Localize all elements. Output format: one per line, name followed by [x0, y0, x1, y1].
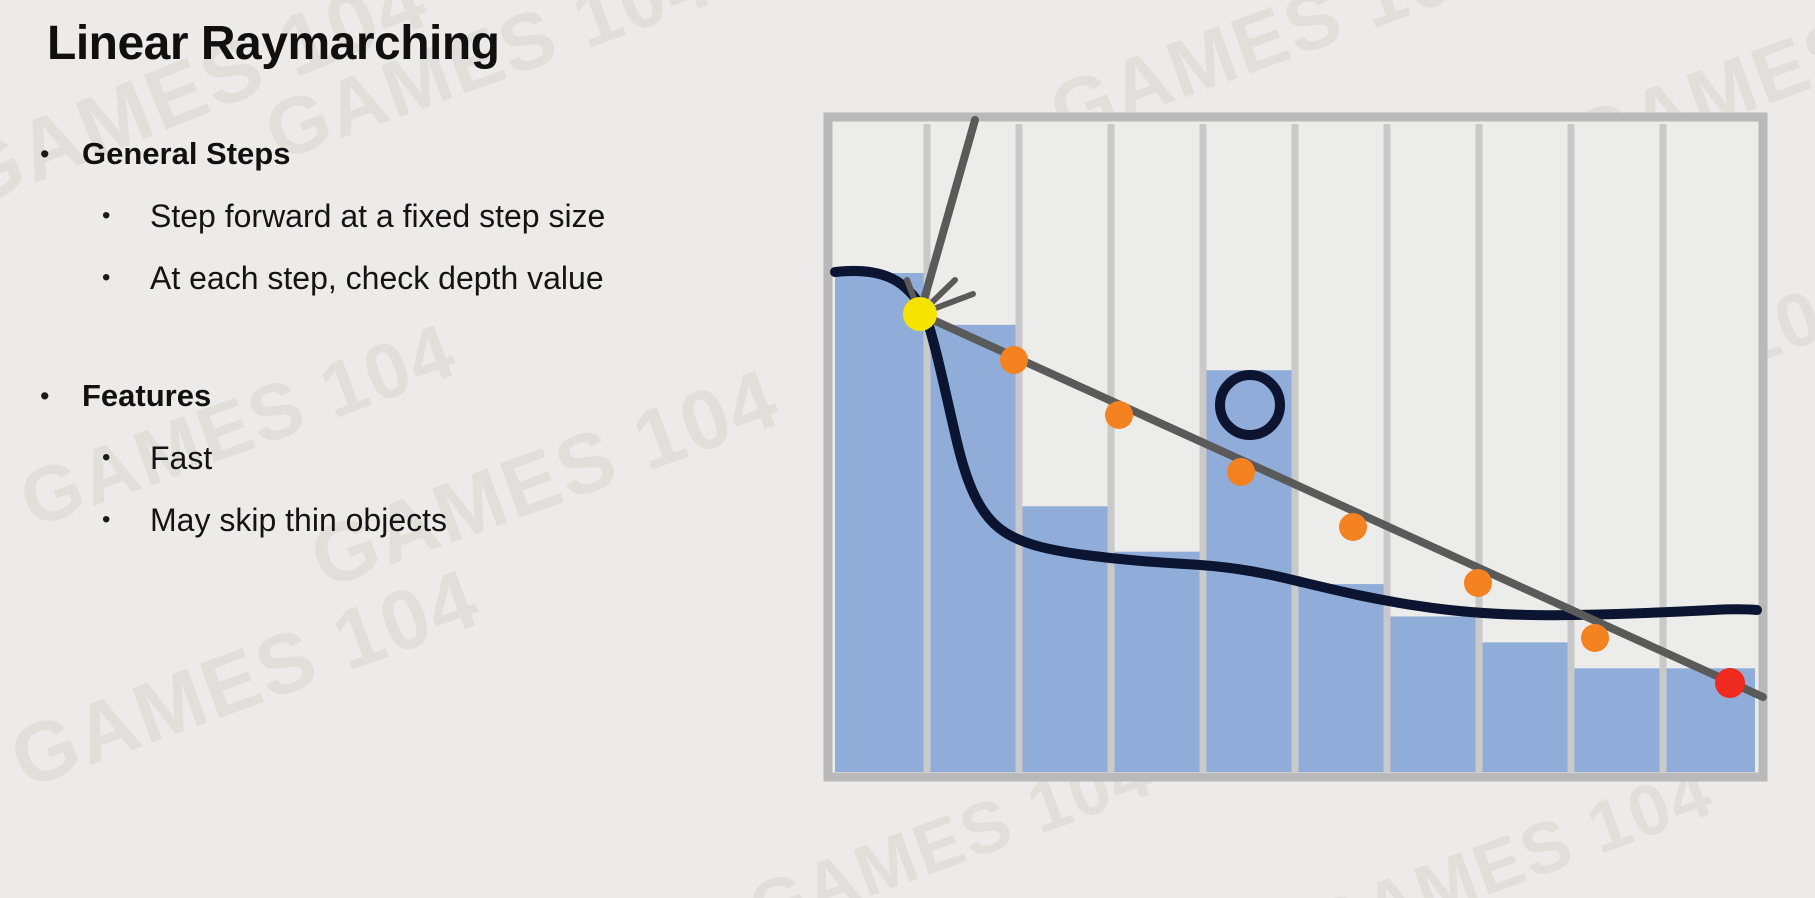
step-sample-dot: [1227, 458, 1255, 486]
bullet-group-spacer: [40, 312, 780, 370]
step-sample-dot: [1105, 401, 1133, 429]
step-sample-dot: [1339, 513, 1367, 541]
depth-bar: [1111, 552, 1203, 772]
bullet-label: General Steps: [82, 128, 290, 180]
slide-content: Linear Raymarching • General Steps • Ste…: [0, 0, 1815, 898]
bullet-item-check-depth: • At each step, check depth value: [40, 250, 780, 306]
bullet-item-step-forward: • Step forward at a fixed step size: [40, 188, 780, 244]
bullet-marker-icon: •: [40, 128, 82, 180]
bullet-marker-icon: •: [102, 492, 150, 548]
depth-bar: [1295, 584, 1387, 772]
bullet-label: May skip thin objects: [150, 492, 447, 548]
step-sample-dot: [1464, 569, 1492, 597]
ray-start-hit-dot: [903, 297, 937, 331]
bullet-label: At each step, check depth value: [150, 250, 604, 306]
raymarching-diagram-svg: [823, 112, 1768, 782]
bullet-item-features: • Features: [40, 370, 780, 422]
depth-bar: [1479, 642, 1571, 772]
bullet-label: Features: [82, 370, 211, 422]
bullet-item-may-skip-thin-objects: • May skip thin objects: [40, 492, 780, 548]
depth-bar: [1387, 616, 1479, 772]
depth-bar: [835, 273, 927, 772]
bullet-item-fast: • Fast: [40, 430, 780, 486]
bullet-marker-icon: •: [102, 430, 150, 486]
step-sample-dot: [1581, 624, 1609, 652]
bullet-label: Fast: [150, 430, 212, 486]
bullet-marker-icon: •: [102, 250, 150, 306]
bullet-label: Step forward at a fixed step size: [150, 188, 605, 244]
step-sample-dot: [1000, 346, 1028, 374]
bullet-marker-icon: •: [102, 188, 150, 244]
bullet-list: • General Steps • Step forward at a fixe…: [40, 128, 780, 554]
depth-bar: [1571, 668, 1663, 772]
raymarching-diagram: [823, 112, 1768, 782]
ray-final-hit-dot: [1715, 668, 1745, 698]
page-title: Linear Raymarching: [47, 18, 499, 71]
bullet-marker-icon: •: [40, 370, 82, 422]
bullet-item-general-steps: • General Steps: [40, 128, 780, 180]
slide-canvas: GAMES 104 GAMES 104 GAMES 104 GAMES 104 …: [0, 0, 1815, 898]
